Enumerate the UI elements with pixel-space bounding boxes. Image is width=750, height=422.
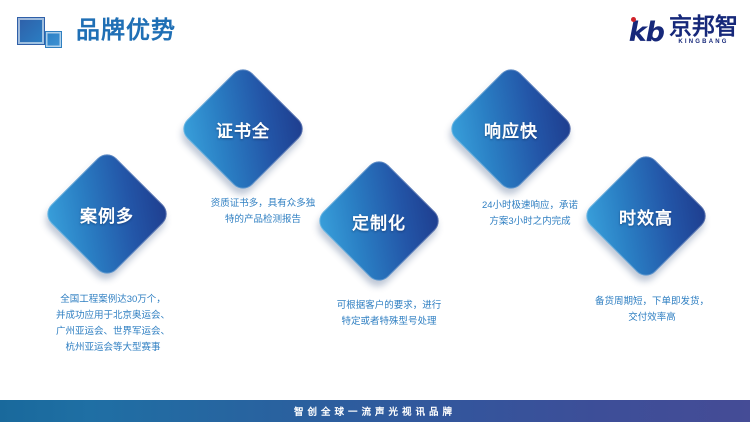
brand-logo: kb 京邦智 KINGBANG <box>629 14 738 46</box>
logo-kb-mark: kb <box>629 19 664 46</box>
feature-desc-line: 交付效率高 <box>552 310 750 326</box>
slide-header: 品牌优势 kb 京邦智 KINGBANG <box>0 0 750 60</box>
page-title: 品牌优势 <box>76 16 176 46</box>
logo-english-name: KINGBANG <box>678 38 728 46</box>
feature-desc-4: 备货周期短，下单即发货， 交付效率高 <box>552 294 750 326</box>
feature-diamond-1[interactable]: 证书全 <box>178 64 308 194</box>
feature-desc-line: 广州亚运会、世界军运会、 <box>13 324 213 340</box>
feature-label-2: 定制化 <box>333 175 425 267</box>
feature-label-3: 响应快 <box>465 83 557 175</box>
square-large-icon <box>18 18 44 44</box>
feature-diamond-0[interactable]: 案例多 <box>42 149 172 279</box>
feature-desc-2: 可根据客户的要求，进行 特定或者特殊型号处理 <box>289 298 489 330</box>
feature-diamond-3[interactable]: 响应快 <box>446 64 576 194</box>
footer-slogan: 智创全球一流声光视讯品牌 <box>294 404 456 418</box>
logo-dot-icon <box>631 17 636 22</box>
feature-desc-0: 全国工程案例达30万个， 并成功应用于北京奥运会、 广州亚运会、世界军运会、 杭… <box>13 292 213 356</box>
square-small-icon <box>46 32 61 47</box>
logo-chinese-name: 京邦智 <box>669 14 738 38</box>
feature-label-1: 证书全 <box>197 83 289 175</box>
feature-desc-line: 备货周期短，下单即发货， <box>552 294 750 310</box>
feature-desc-line: 全国工程案例达30万个， <box>13 292 213 308</box>
feature-diamond-4[interactable]: 时效高 <box>581 151 711 281</box>
feature-desc-line: 特定或者特殊型号处理 <box>289 314 489 330</box>
feature-desc-line: 可根据客户的要求，进行 <box>289 298 489 314</box>
slide-footer: 智创全球一流声光视讯品牌 <box>0 400 750 422</box>
feature-desc-line: 并成功应用于北京奥运会、 <box>13 308 213 324</box>
feature-desc-line: 杭州亚运会等大型赛事 <box>13 340 213 356</box>
slide-canvas: 品牌优势 kb 京邦智 KINGBANG 案例多 全国工程案例达30万个， 并成… <box>0 0 750 422</box>
logo-name-block: 京邦智 KINGBANG <box>669 14 738 46</box>
feature-label-0: 案例多 <box>61 168 153 260</box>
feature-diamond-2[interactable]: 定制化 <box>314 156 444 286</box>
header-square-mark <box>18 18 70 50</box>
feature-label-4: 时效高 <box>600 170 692 262</box>
